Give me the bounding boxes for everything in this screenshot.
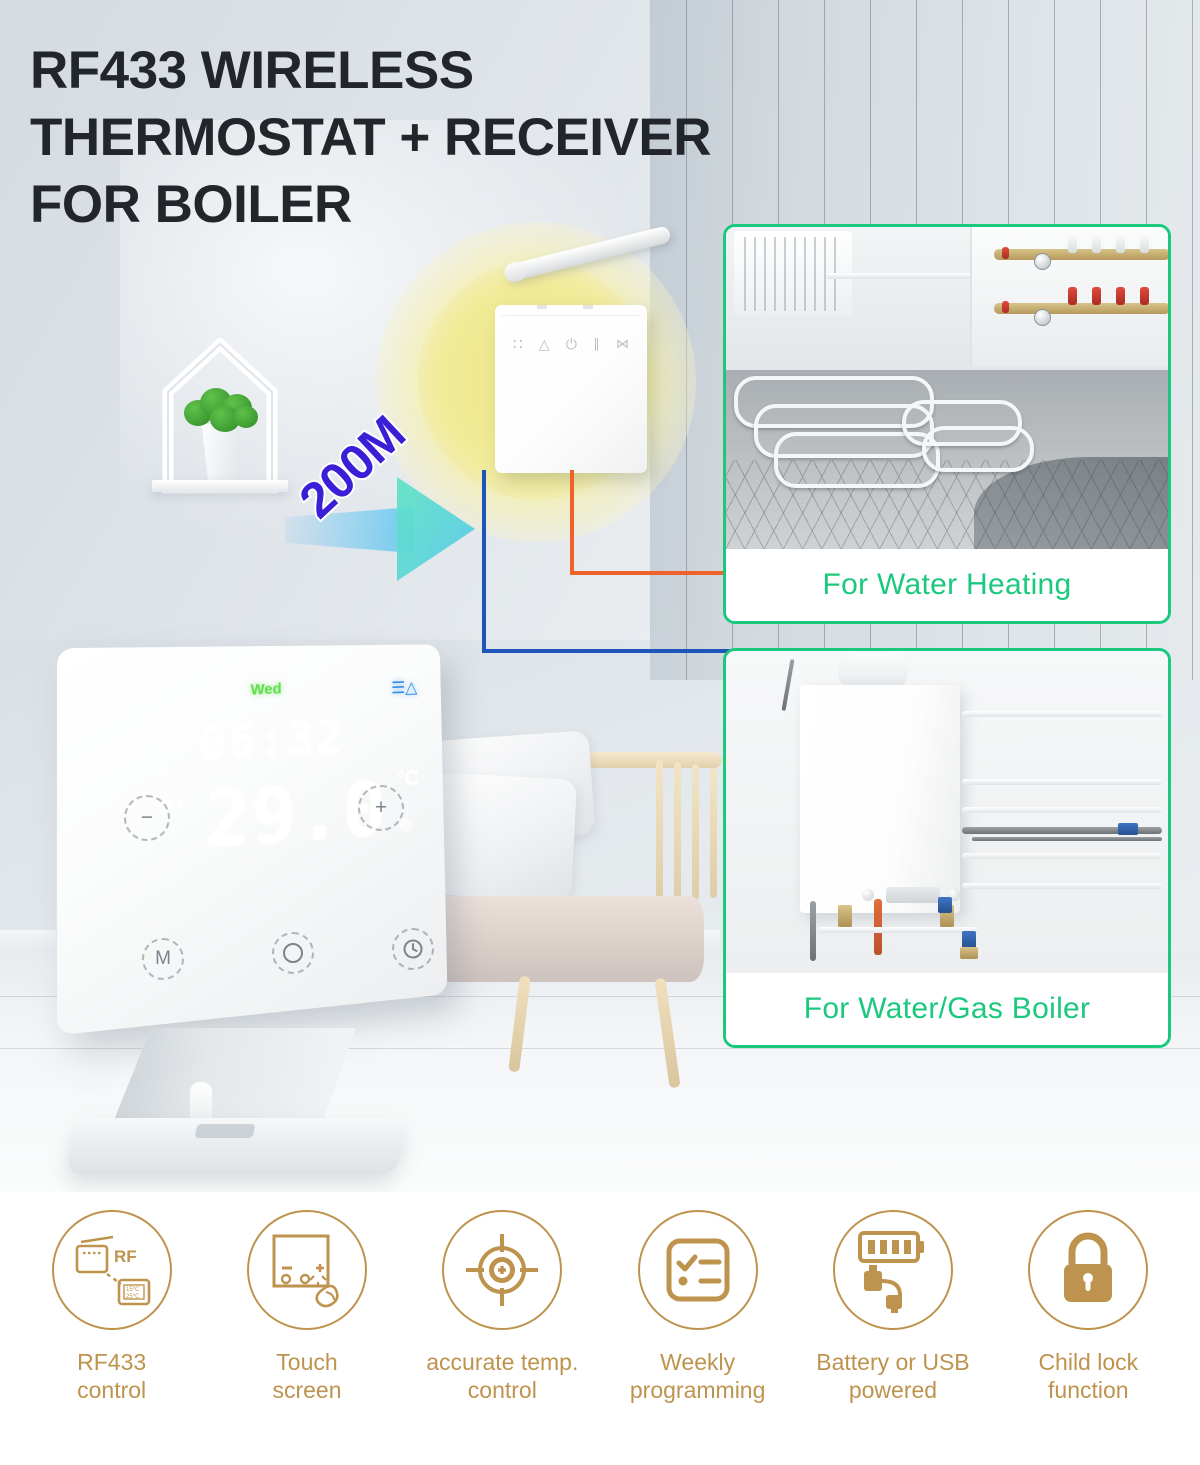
feature-accurate-temp: accurate temp. control bbox=[409, 1210, 595, 1404]
headline-line-2: THERMOSTAT + RECEIVER bbox=[30, 105, 711, 172]
wire-blue-horizontal bbox=[482, 649, 730, 653]
power-icon: ⏻ bbox=[566, 336, 577, 353]
timer-button[interactable] bbox=[392, 928, 434, 970]
feature-strip: RF 15℃ 25℃ RF433 control bbox=[0, 1192, 1200, 1465]
feature-label-line2: function bbox=[1038, 1376, 1138, 1404]
feature-battery-usb: Battery or USB powered bbox=[800, 1210, 986, 1404]
rf-high-temp: 25℃ bbox=[126, 1294, 140, 1300]
svg-text:RF: RF bbox=[114, 1247, 137, 1266]
lcd-time: 06:32 bbox=[198, 710, 345, 771]
wifi-icon: ∷ bbox=[513, 335, 523, 353]
house-shelf bbox=[160, 338, 280, 498]
battery-usb-icon bbox=[833, 1210, 953, 1330]
headline-line-1: RF433 WIRELESS bbox=[30, 38, 711, 105]
rf-signal-icon: ☰△ bbox=[391, 678, 417, 698]
rf-control-icon: RF 15℃ 25℃ bbox=[52, 1210, 172, 1330]
power-button[interactable] bbox=[272, 932, 314, 974]
plant-foliage bbox=[182, 384, 262, 436]
heat-icon: ∥ bbox=[593, 336, 600, 352]
card-label-water-heating: For Water Heating bbox=[726, 549, 1168, 621]
chair-leg bbox=[508, 976, 531, 1073]
checklist-icon bbox=[638, 1210, 758, 1330]
feature-child-lock: Child lock function bbox=[995, 1210, 1181, 1404]
gas-boiler-photo bbox=[726, 651, 1168, 975]
stand-cable-slot bbox=[195, 1124, 256, 1138]
signal-icon: ⋈ bbox=[616, 336, 629, 352]
decrease-temp-button[interactable]: − bbox=[124, 795, 170, 841]
card-water-heating: For Water Heating bbox=[723, 224, 1171, 624]
warning-triangle-icon: △ bbox=[539, 336, 550, 353]
feature-weekly-programming: Weekly programming bbox=[605, 1210, 791, 1404]
boiler-unit bbox=[800, 685, 960, 913]
boiler-flue bbox=[838, 655, 908, 689]
feature-label-line2: control bbox=[77, 1376, 146, 1404]
manifold-cabinet bbox=[970, 227, 1171, 367]
feature-label-line2: control bbox=[426, 1376, 578, 1404]
feature-rf433-control: RF 15℃ 25℃ RF433 control bbox=[19, 1210, 205, 1404]
feature-label-line1: Child lock bbox=[1038, 1348, 1138, 1376]
feature-label-line2: powered bbox=[816, 1376, 969, 1404]
target-crosshair-icon bbox=[442, 1210, 562, 1330]
feature-touch-screen: Touch screen bbox=[214, 1210, 400, 1404]
padlock-icon bbox=[1028, 1210, 1148, 1330]
rf-receiver-unit: ∷ △ ⏻ ∥ ⋈ bbox=[495, 305, 647, 473]
clock-icon bbox=[402, 938, 424, 960]
shelf-board bbox=[152, 480, 288, 492]
clock-icon bbox=[161, 724, 188, 752]
lcd-unit: °C bbox=[396, 765, 419, 792]
power-icon bbox=[283, 943, 303, 963]
wire-orange-horizontal bbox=[570, 571, 730, 575]
feature-label-line1: RF433 bbox=[77, 1348, 146, 1376]
feature-label-line2: programming bbox=[630, 1376, 766, 1404]
lcd-weekday: Wed bbox=[251, 680, 282, 698]
headline-line-3: FOR BOILER bbox=[30, 172, 711, 239]
card-label-gas-boiler: For Water/Gas Boiler bbox=[726, 973, 1168, 1045]
card-gas-boiler: For Water/Gas Boiler bbox=[723, 648, 1171, 1048]
feature-label-line2: screen bbox=[272, 1376, 341, 1404]
rf-low-temp: 15℃ bbox=[126, 1287, 140, 1293]
underfloor-heating-photo bbox=[726, 227, 1168, 551]
mode-button[interactable]: M bbox=[142, 938, 184, 980]
touch-screen-icon bbox=[247, 1210, 367, 1330]
chair-leg bbox=[654, 978, 680, 1088]
wire-orange-vertical bbox=[570, 470, 574, 575]
hero-section: ∷ △ ⏻ ∥ ⋈ 200M bbox=[0, 0, 1200, 1192]
feature-label-line1: Weekly bbox=[630, 1348, 766, 1376]
feature-label-line1: accurate temp. bbox=[426, 1348, 578, 1376]
receiver-status-icons: ∷ △ ⏻ ∥ ⋈ bbox=[513, 335, 629, 353]
increase-temp-button[interactable]: + bbox=[358, 785, 404, 831]
feature-label-line1: Touch bbox=[272, 1348, 341, 1376]
feature-label-line1: Battery or USB bbox=[816, 1348, 969, 1376]
